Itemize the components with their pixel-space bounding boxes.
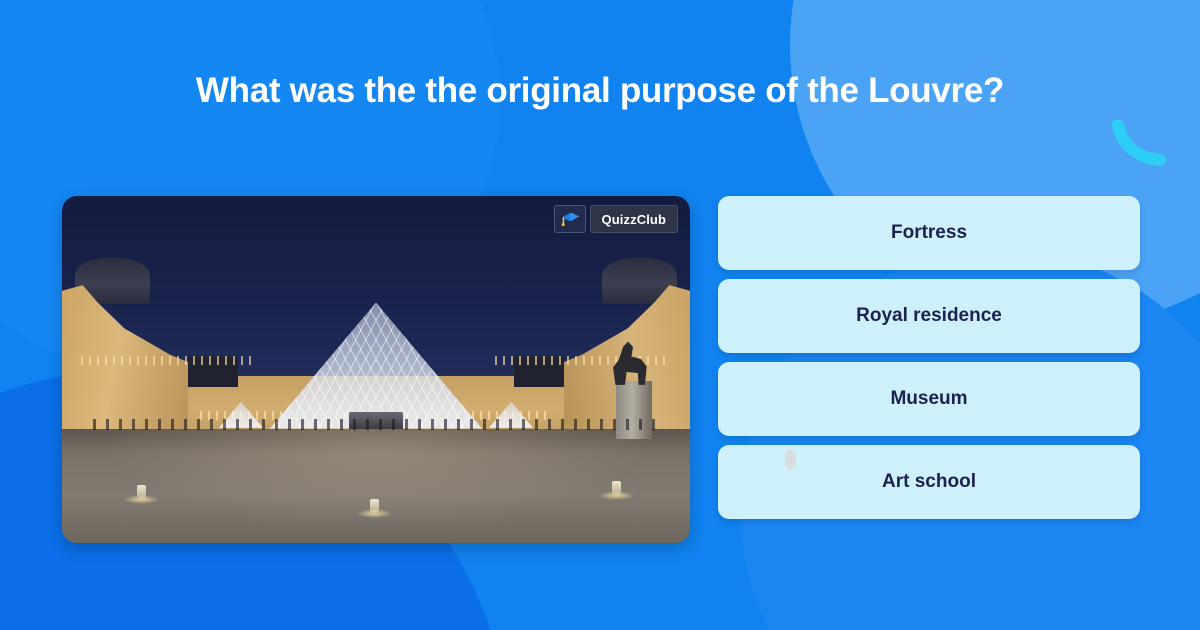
answer-option-label: Museum [890, 388, 967, 410]
question-image-card: QuizzClub [62, 196, 690, 543]
watermark-brand-label: QuizzClub [590, 205, 678, 233]
photo-ground-lamp [137, 485, 146, 498]
photo-ground-lamp [370, 499, 379, 512]
watermark-badge: QuizzClub [554, 205, 678, 233]
answer-option-label: Art school [882, 471, 976, 493]
answer-option-label: Fortress [891, 222, 967, 244]
photo-ground-sheen [62, 429, 690, 544]
quiz-card: What was the the original purpose of the… [0, 0, 1200, 630]
photo-window-row-left [81, 356, 257, 365]
answer-option-4[interactable]: Art school [718, 445, 1140, 519]
answer-option-3[interactable]: Museum [718, 362, 1140, 436]
louvre-night-photo [62, 196, 690, 543]
question-title: What was the the original purpose of the… [0, 70, 1200, 112]
swoosh-accent-icon [1112, 120, 1168, 166]
graduation-cap-icon [554, 205, 586, 233]
answer-options-list: Fortress Royal residence Museum Art scho… [718, 196, 1140, 519]
photo-glass-pyramid [270, 303, 482, 429]
photo-crowd-silhouettes [93, 419, 658, 430]
cursor-indicator [785, 450, 796, 469]
photo-ground-lamp [612, 481, 621, 494]
answer-option-1[interactable]: Fortress [718, 196, 1140, 270]
answer-option-2[interactable]: Royal residence [718, 279, 1140, 353]
answer-option-label: Royal residence [856, 305, 1002, 327]
photo-window-row-right [495, 356, 671, 365]
